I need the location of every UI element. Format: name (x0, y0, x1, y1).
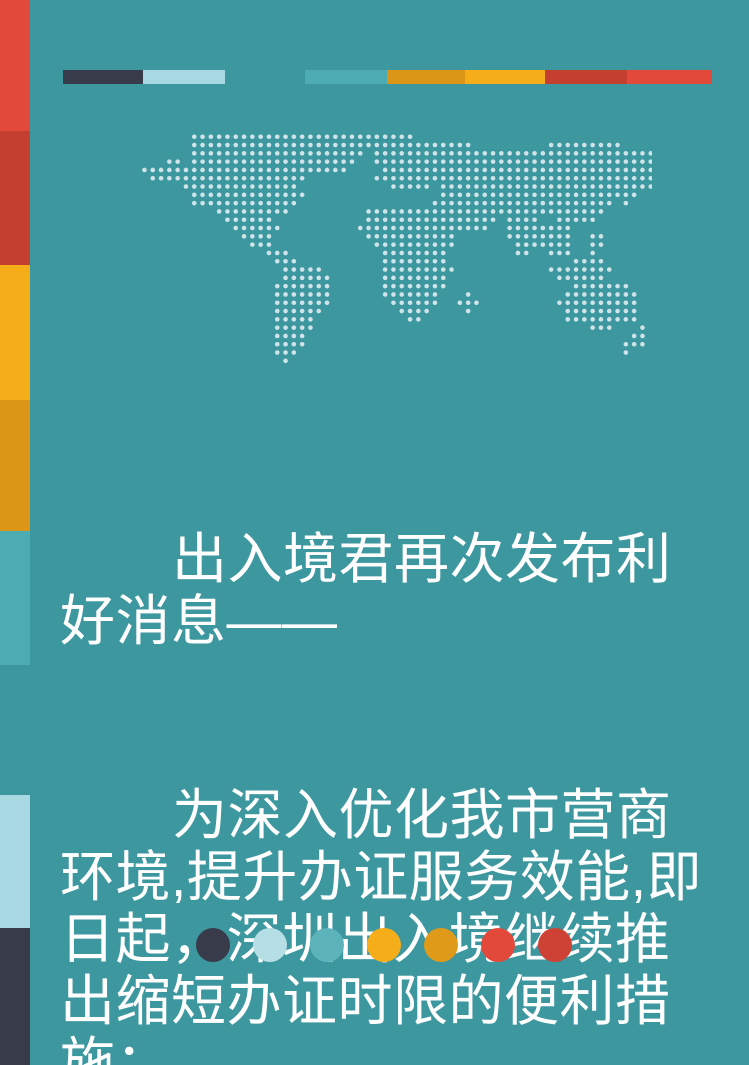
dot-red-dark (538, 928, 572, 962)
dot-red-bright (481, 928, 515, 962)
dot-pale-blue (253, 928, 287, 962)
rail-teal-light (0, 531, 30, 665)
paragraph-2-text: 为深入优化我市营商环境,提升办证服务效能,即日起，深圳出入境继续推出缩短办证时限… (60, 784, 702, 1065)
dot-teal-light (310, 928, 344, 962)
rail-orange (0, 400, 30, 531)
topbar-red-dark (545, 70, 627, 84)
rail-teal-bg (0, 665, 30, 795)
rail-red-dark (0, 131, 30, 265)
rail-red-bright (0, 0, 30, 131)
paragraph-1: 出入境君再次发布利好消息—— (60, 528, 720, 652)
dot-orange-dark (424, 928, 458, 962)
rail-navy (0, 928, 30, 1065)
poster-body-copy: 出入境君再次发布利好消息—— 为深入优化我市营商环境,提升办证服务效能,即日起，… (60, 404, 720, 1065)
dot-yellow (367, 928, 401, 962)
paragraph-2: 为深入优化我市营商环境,提升办证服务效能,即日起，深圳出入境继续推出缩短办证时限… (60, 784, 720, 1065)
dot-navy (196, 928, 230, 962)
rail-yellow (0, 265, 30, 400)
topbar-navy (63, 70, 143, 84)
topbar-pale-blue (143, 70, 225, 84)
topbar-yellow (465, 70, 545, 84)
topbar-orange-dark (387, 70, 465, 84)
paragraph-1-text: 出入境君再次发布利好消息—— (60, 528, 672, 652)
bottom-dot-row (196, 928, 596, 964)
topbar-red-bright (627, 70, 712, 84)
topbar-teal-light (305, 70, 387, 84)
rail-pale-blue (0, 795, 30, 928)
poster-canvas: 出入境君再次发布利好消息—— 为深入优化我市营商环境,提升办证服务效能,即日起，… (0, 0, 749, 1065)
dotted-world-map (132, 116, 652, 382)
left-color-rail (0, 0, 30, 1065)
